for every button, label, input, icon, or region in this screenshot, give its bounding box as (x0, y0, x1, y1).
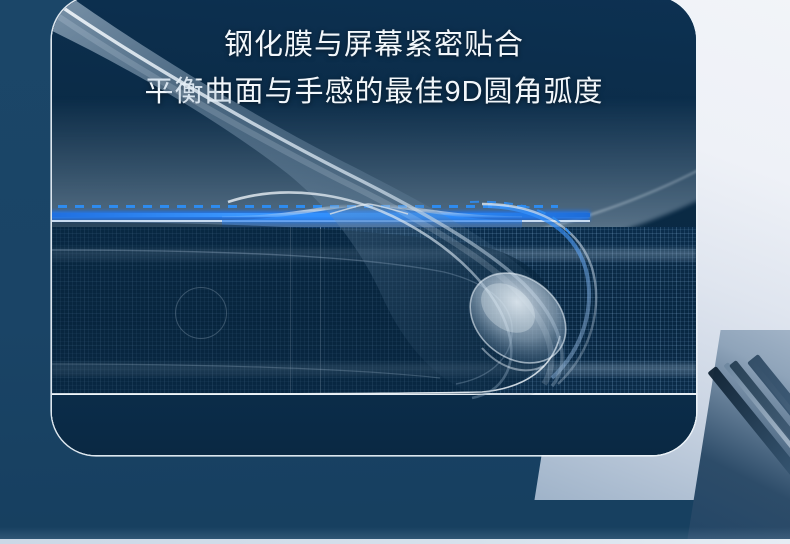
hero-card: 钢化膜与屏幕紧密贴合 平衡曲面与手感的最佳9D圆角弧度 (52, 0, 696, 455)
phone-screen-grid (52, 227, 696, 394)
headline-primary: 钢化膜与屏幕紧密贴合 (52, 22, 696, 69)
grid-horizontal-highlight-1 (52, 245, 696, 262)
grid-horizontal-highlight-2 (52, 360, 696, 377)
bottom-light-strip (0, 539, 790, 544)
phone-lower-body (52, 395, 696, 455)
headline-secondary: 平衡曲面与手感的最佳9D圆角弧度 (52, 69, 696, 116)
headline-block: 钢化膜与屏幕紧密贴合 平衡曲面与手感的最佳9D圆角弧度 (52, 22, 696, 116)
film-bulge-shape (222, 186, 522, 246)
phone-rear-camera-ring-icon (175, 287, 227, 339)
film-bulge (222, 186, 522, 246)
bottom-fade (0, 527, 790, 539)
banner-stage: 钢化膜与屏幕紧密贴合 平衡曲面与手感的最佳9D圆角弧度 (0, 0, 790, 544)
